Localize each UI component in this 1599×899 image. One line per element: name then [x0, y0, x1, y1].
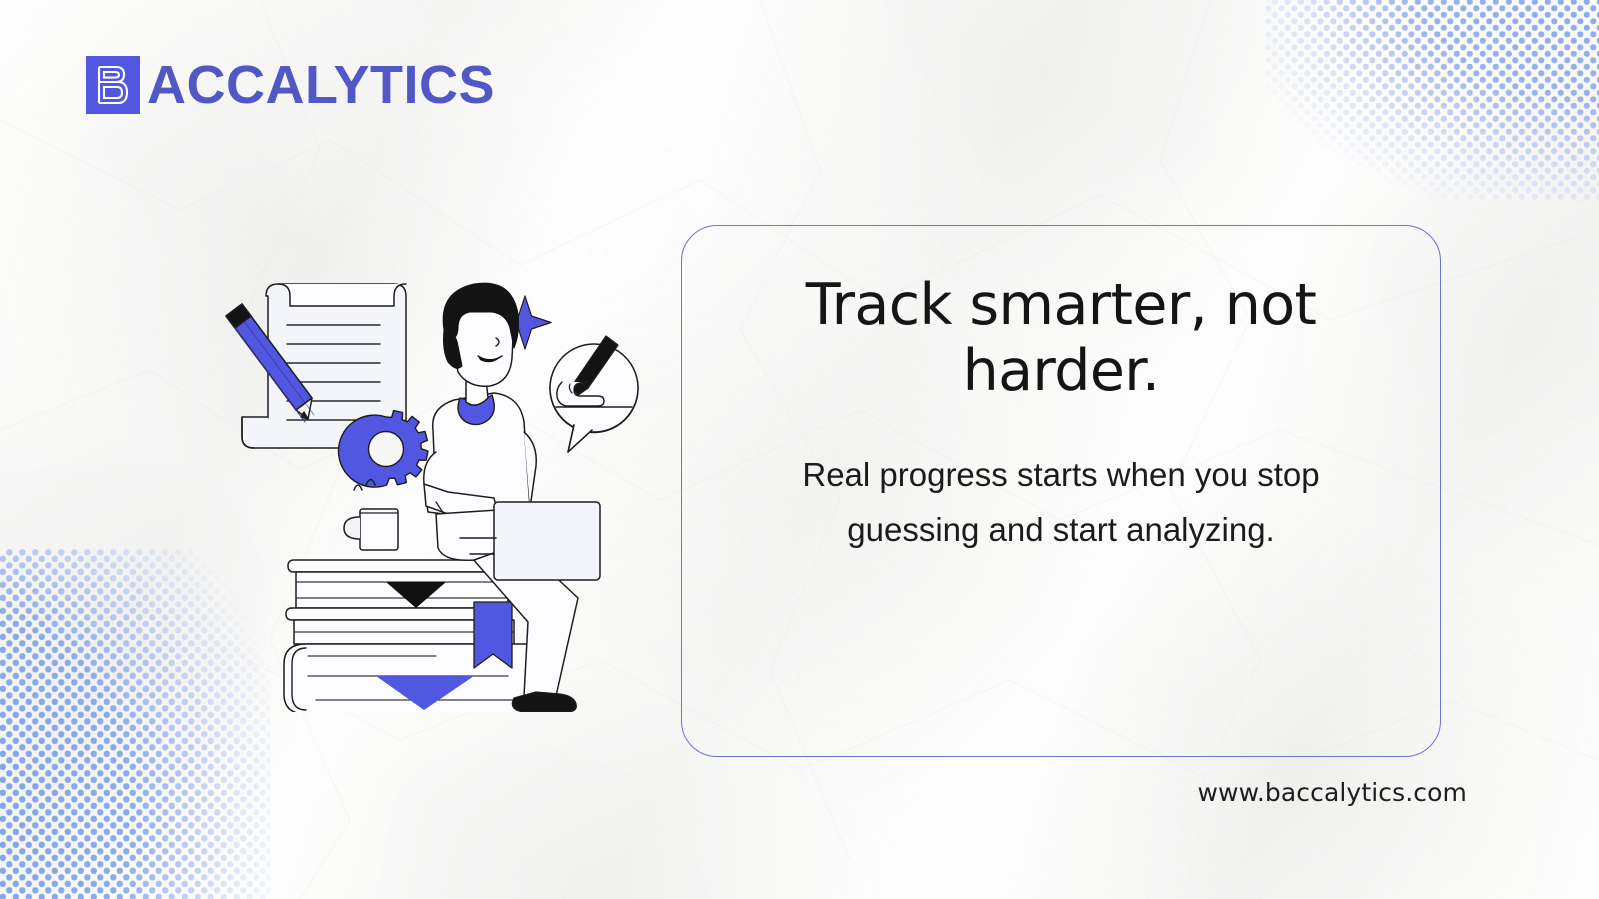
hero-illustration [208, 262, 640, 712]
message-card: Track smarter, not harder. Real progress… [681, 225, 1441, 757]
headline-text: Track smarter, not harder. [761, 272, 1361, 404]
coffee-mug-icon [344, 480, 398, 551]
halftone-dots-top-right [1265, 0, 1599, 201]
brand-wordmark: ACCALYTICS [147, 58, 495, 112]
banner-canvas: ACCALYTICS [0, 0, 1599, 899]
subheadline-text: Real progress starts when you stop guess… [771, 448, 1351, 558]
website-url[interactable]: www.baccalytics.com [1198, 778, 1468, 807]
speech-bubble-hand-writing-icon [550, 336, 638, 452]
book-stack-icon [284, 560, 528, 712]
letter-b-outline-icon [93, 63, 133, 107]
brand-logo[interactable]: ACCALYTICS [86, 56, 495, 114]
logo-mark-icon [86, 56, 140, 114]
